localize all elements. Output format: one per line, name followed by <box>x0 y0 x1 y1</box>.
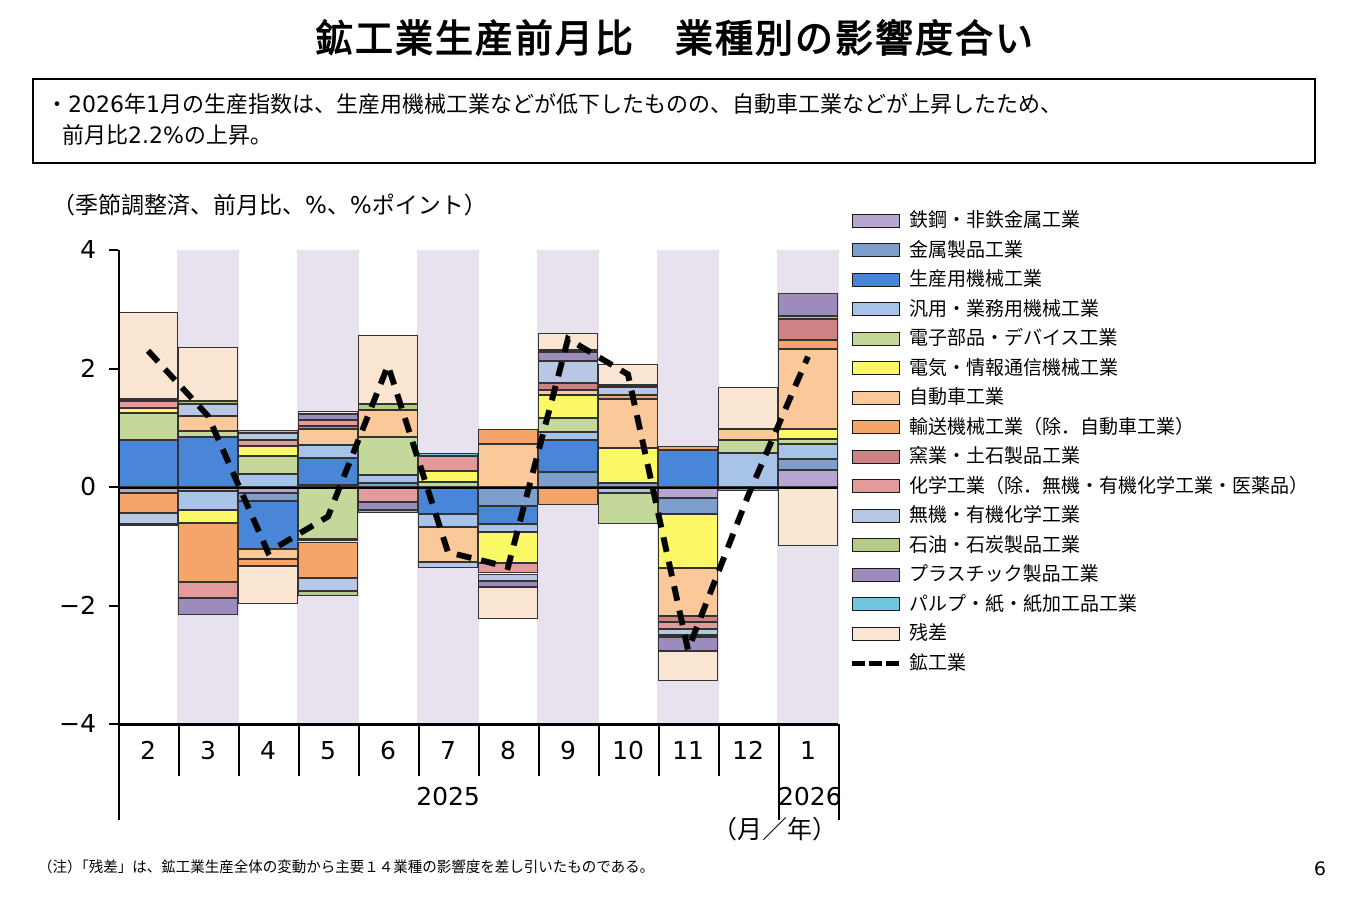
bar-segment <box>358 410 418 437</box>
bar-segment <box>118 440 178 487</box>
bar-segment <box>538 395 598 418</box>
bar-segment <box>358 404 418 410</box>
legend-swatch-icon <box>852 568 900 582</box>
legend-swatch-icon <box>852 509 900 523</box>
legend-item[interactable]: 汎用・業務用機械工業 <box>852 295 1322 325</box>
bar-segment <box>418 514 478 527</box>
y-axis-tick <box>109 249 118 251</box>
legend-item-label: 電気・情報通信機械工業 <box>909 359 1118 378</box>
legend-swatch-icon <box>852 420 900 434</box>
legend-swatch-icon <box>852 538 900 552</box>
x-axis-month-label: 4 <box>238 732 298 770</box>
bar-segment <box>478 532 538 563</box>
legend-item[interactable]: 鉄鋼・非鉄金属工業 <box>852 206 1322 236</box>
bar-segment <box>598 448 658 482</box>
unit-label: （季節調整済、前月比、%、%ポイント） <box>52 186 487 220</box>
legend-item[interactable]: 電気・情報通信機械工業 <box>852 354 1322 384</box>
bar-segment <box>178 404 238 416</box>
bar-segment <box>118 413 178 440</box>
footnote: （注）「残差」は、鉱工業生産全体の変動から主要１４業種の影響度を差し引いたもので… <box>38 856 654 877</box>
bar-segment <box>778 459 838 471</box>
bar-segment <box>118 513 178 524</box>
bar-segment <box>178 523 238 582</box>
bar-segment <box>538 333 598 350</box>
legend-item[interactable]: 輸送機械工業（除．自動車工業） <box>852 413 1322 443</box>
legend-item-label: 金属製品工業 <box>909 241 1023 260</box>
bar-segment <box>298 458 358 485</box>
legend-item-label: 電子部品・デバイス工業 <box>909 329 1117 348</box>
bar-segment <box>118 524 178 526</box>
bar-segment <box>478 587 538 620</box>
x-axis: 23456789101112120252026 <box>118 724 838 820</box>
legend-swatch-icon <box>852 391 900 405</box>
x-axis-month-label: 9 <box>538 732 598 770</box>
bar-segment <box>178 437 238 487</box>
bar-segment <box>658 568 718 617</box>
bar-segment <box>238 474 298 487</box>
bar-segment <box>178 510 238 524</box>
bar-segment <box>598 395 658 399</box>
bar-segment <box>298 414 358 420</box>
bar-segment <box>778 429 838 439</box>
y-axis-tick <box>109 486 118 488</box>
lead-summary-box: ・2026年1月の生産指数は、生産用機械工業などが低下したものの、自動車工業など… <box>32 78 1316 164</box>
legend-item-label: パルプ・紙・紙加工品工業 <box>909 595 1137 614</box>
bar-segment <box>358 510 418 513</box>
legend-swatch-icon <box>852 273 900 287</box>
bar-segment <box>718 387 778 428</box>
legend-swatch-icon <box>852 627 900 641</box>
legend-item-label: 輸送機械工業（除．自動車工業） <box>909 418 1194 437</box>
bar-segment <box>778 293 838 317</box>
bar-segment <box>298 429 358 445</box>
bar-segment <box>538 418 598 433</box>
bar-segment <box>478 444 538 487</box>
x-axis-month-label: 10 <box>598 732 658 770</box>
legend-item[interactable]: 化学工業（除．無機・有機化学工業・医薬品） <box>852 472 1322 502</box>
bar-segment <box>358 335 418 404</box>
bar-segment <box>418 456 478 471</box>
legend-swatch-icon <box>852 243 900 257</box>
x-axis-caption: （月／年） <box>712 810 837 846</box>
bar-segment <box>178 598 238 615</box>
bar-segment <box>778 470 838 487</box>
bar-segment <box>418 562 478 568</box>
bar-segment <box>538 487 598 505</box>
bar-segment <box>478 563 538 574</box>
bar-segment <box>358 437 418 476</box>
bar-segment <box>598 387 658 395</box>
bar-segment <box>418 471 478 482</box>
bar-segment <box>238 566 298 605</box>
bar-segment <box>358 502 418 510</box>
legend-item[interactable]: 金属製品工業 <box>852 236 1322 266</box>
legend-item-label: 鉱工業 <box>909 654 966 673</box>
legend-item-label: 石油・石炭製品工業 <box>909 536 1080 555</box>
bar-segment <box>298 445 358 458</box>
legend-swatch-icon <box>852 332 900 346</box>
legend-item[interactable]: 生産用機械工業 <box>852 265 1322 295</box>
legend-swatch-icon <box>852 302 900 316</box>
legend-item[interactable]: 自動車工業 <box>852 383 1322 413</box>
legend-item[interactable]: 石油・石炭製品工業 <box>852 531 1322 561</box>
bar-segment <box>298 578 358 591</box>
y-axis-tick <box>109 368 118 370</box>
bar-segment <box>118 401 178 408</box>
bar-segment <box>418 527 478 563</box>
bar-segment <box>658 514 718 567</box>
bar-segment <box>178 491 238 510</box>
bar-segment <box>598 364 658 385</box>
bar-segment <box>178 582 238 598</box>
bar-segment <box>478 524 538 532</box>
bar-segment <box>478 429 538 444</box>
bar-segment <box>478 506 538 524</box>
legend-item[interactable]: 残差 <box>852 619 1322 649</box>
bar-segment <box>238 433 298 440</box>
legend-item-label: 無機・有機化学工業 <box>909 506 1080 525</box>
bar-segment <box>478 574 538 581</box>
legend-item-label: 窯業・土石製品工業 <box>909 447 1080 466</box>
chart-plot-area <box>118 250 838 724</box>
bar-segment <box>778 439 838 444</box>
legend-item-label: 鉄鋼・非鉄金属工業 <box>909 211 1080 230</box>
bar-segment <box>718 429 778 440</box>
x-axis-month-label: 6 <box>358 732 418 770</box>
lead-line-1: ・2026年1月の生産指数は、生産用機械工業などが低下したものの、自動車工業など… <box>46 90 1302 121</box>
legend-dashed-line-icon <box>852 656 900 670</box>
legend-swatch-icon <box>852 361 900 375</box>
y-axis-tick-label: −4 <box>52 711 96 736</box>
bar-segment <box>238 440 298 446</box>
legend-item-mining-line[interactable]: 鉱工業 <box>852 649 1322 679</box>
legend-item-label: 生産用機械工業 <box>909 270 1042 289</box>
bar-segment <box>238 430 298 433</box>
bar-segment <box>298 420 358 426</box>
bar-segment <box>718 453 778 487</box>
bar-segment <box>538 440 598 473</box>
bar-segment <box>298 591 358 596</box>
bar-segment <box>358 487 418 502</box>
legend-item[interactable]: 電子部品・デバイス工業 <box>852 324 1322 354</box>
legend-item[interactable]: パルプ・紙・紙加工品工業 <box>852 590 1322 620</box>
bar-segment <box>658 446 718 450</box>
bar-segment <box>118 493 178 513</box>
bar-segment <box>658 498 718 515</box>
legend-swatch-icon <box>852 214 900 228</box>
bar-segment <box>418 453 478 456</box>
page-title: 鉱工業生産前月比 業種別の影響度合い <box>0 8 1350 63</box>
bar-segment <box>118 408 178 413</box>
bar-segment <box>658 651 718 682</box>
bar-segment <box>658 637 718 650</box>
bar-segment <box>178 347 238 401</box>
bar-segment <box>538 383 598 390</box>
bar-segment <box>538 352 598 361</box>
y-axis-tick <box>109 605 118 607</box>
legend-swatch-icon <box>852 479 900 493</box>
legend-item-label: 化学工業（除．無機・有機化学工業・医薬品） <box>909 477 1308 496</box>
legend-swatch-icon <box>852 597 900 611</box>
chart-legend: 鉄鋼・非鉄金属工業金属製品工業生産用機械工業汎用・業務用機械工業電子部品・デバイ… <box>852 206 1322 678</box>
bar-segment <box>418 487 478 514</box>
bar-segment <box>778 349 838 429</box>
bar-segment <box>538 432 598 439</box>
bar-segment <box>598 493 658 524</box>
bar-segment <box>538 390 598 395</box>
legend-item-label: 残差 <box>909 624 947 643</box>
legend-item-label: プラスチック製品工業 <box>909 565 1099 584</box>
bar-segment <box>298 411 358 414</box>
bar-segment <box>298 426 358 429</box>
legend-item-label: 汎用・業務用機械工業 <box>909 300 1099 319</box>
x-axis-month-label: 8 <box>478 732 538 770</box>
bar-segment <box>598 385 658 387</box>
x-axis-month-label: 3 <box>178 732 238 770</box>
legend-swatch-icon <box>852 450 900 464</box>
legend-item-label: 自動車工業 <box>909 388 1004 407</box>
bar-segment <box>238 549 298 560</box>
legend-item[interactable]: 無機・有機化学工業 <box>852 501 1322 531</box>
bar-segment <box>238 493 298 501</box>
x-axis-month-label: 7 <box>418 732 478 770</box>
bar-segment <box>658 450 718 487</box>
bar-segment <box>178 401 238 404</box>
x-axis-month-label: 11 <box>658 732 718 770</box>
legend-item[interactable]: 窯業・土石製品工業 <box>852 442 1322 472</box>
bar-segment <box>598 399 658 448</box>
page-number: 6 <box>1314 858 1326 880</box>
bar-segment <box>178 416 238 431</box>
bar-segment <box>238 456 298 474</box>
bar-segment <box>118 399 178 401</box>
bar-segment <box>778 487 838 546</box>
bar-segment <box>118 312 178 400</box>
y-axis-tick <box>109 723 118 725</box>
bar-segment <box>778 444 838 459</box>
bar-segment <box>778 316 838 319</box>
bar-segment <box>298 487 358 539</box>
bar-segment <box>538 472 598 487</box>
bar-segment <box>238 501 298 548</box>
bar-segment <box>478 487 538 506</box>
x-axis-month-label: 2 <box>118 732 178 770</box>
zero-line <box>118 487 838 489</box>
y-axis-tick-label: 0 <box>52 474 96 499</box>
bar-segment <box>178 431 238 437</box>
y-axis-tick-label: 4 <box>52 237 96 262</box>
bar-segment <box>298 542 358 579</box>
x-axis-month-label: 5 <box>298 732 358 770</box>
bar-segment <box>778 340 838 349</box>
x-axis-month-label: 1 <box>778 732 838 770</box>
bar-segment <box>538 350 598 352</box>
bar-segment <box>358 475 418 483</box>
bar-segment <box>718 440 778 453</box>
legend-item[interactable]: プラスチック製品工業 <box>852 560 1322 590</box>
bar-segment <box>778 319 838 340</box>
lead-line-2: 前月比2.2%の上昇。 <box>46 121 1302 152</box>
y-axis-tick-label: −2 <box>52 593 96 618</box>
bar-segment <box>238 446 298 456</box>
y-axis-tick-label: 2 <box>52 356 96 381</box>
x-axis-year-label: 2025 <box>118 776 778 818</box>
x-axis-month-label: 12 <box>718 732 778 770</box>
bar-segment <box>538 361 598 383</box>
bar-segment <box>658 622 718 629</box>
